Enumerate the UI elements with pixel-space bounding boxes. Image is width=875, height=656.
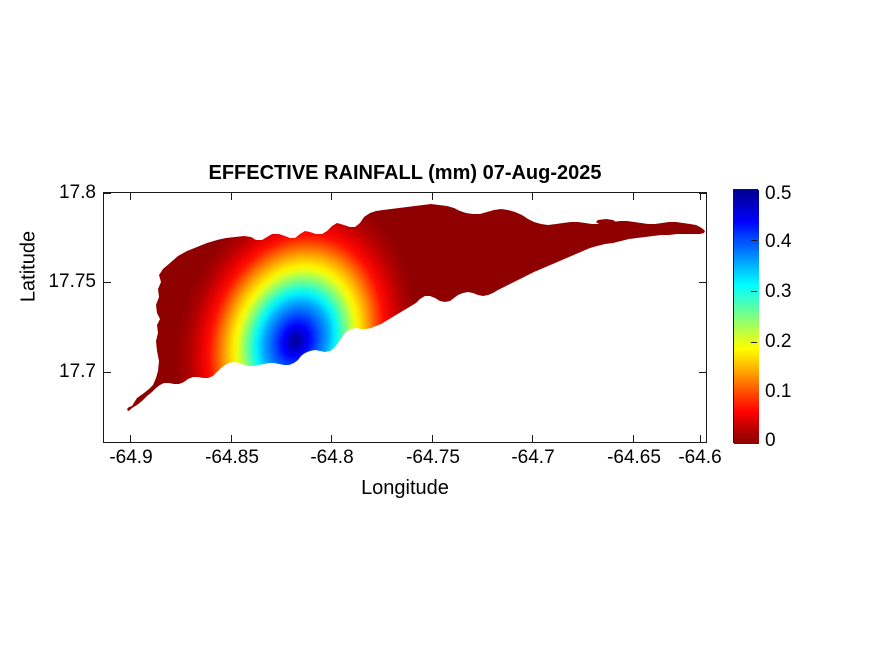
- y-axis-label: Latitude: [18, 207, 41, 327]
- map-axes[interactable]: [103, 192, 707, 443]
- xtick-label-6: -64.6: [678, 447, 721, 469]
- xtick-label-4: -64.7: [511, 447, 554, 469]
- ytick-label-2: 17.8: [0, 182, 96, 204]
- ytick-left-2: [104, 282, 111, 283]
- colorbar-label-3: 0.3: [765, 281, 791, 303]
- xtick-bottom-4: [432, 435, 433, 442]
- ytick-left-1: [104, 372, 111, 373]
- xtick-bottom-3: [331, 435, 332, 442]
- ytick-left-3: [104, 193, 111, 194]
- ytick-right-2: [699, 282, 706, 283]
- colorbar-label-0: 0: [765, 430, 776, 452]
- xtick-top-5: [532, 193, 533, 200]
- xtick-bottom-7: [700, 435, 701, 442]
- colorbar-label-4: 0.4: [765, 231, 791, 253]
- xtick-top-2: [231, 193, 232, 200]
- x-axis-label: Longitude: [103, 477, 707, 500]
- xtick-top-4: [432, 193, 433, 200]
- xtick-top-6: [633, 193, 634, 200]
- rainfall-heatmap: [104, 193, 707, 443]
- xtick-label-2: -64.8: [310, 447, 353, 469]
- xtick-label-3: -64.75: [406, 447, 460, 469]
- island-mask: [104, 193, 707, 443]
- ytick-label-1: 17.75: [0, 271, 96, 293]
- xtick-label-5: -64.65: [607, 447, 661, 469]
- xtick-bottom-5: [532, 435, 533, 442]
- colorbar-tick-0.3: [751, 342, 757, 343]
- colorbar-label-1: 0.1: [765, 381, 791, 403]
- colorbar-gradient: [734, 190, 759, 444]
- xtick-label-1: -64.85: [205, 447, 259, 469]
- colorbar-label-2: 0.2: [765, 331, 791, 353]
- colorbar-tick-0.2: [751, 291, 757, 292]
- page-title: EFFECTIVE RAINFALL (mm) 07-Aug-2025: [103, 162, 707, 185]
- colorbar-label-5: 0.5: [765, 183, 791, 205]
- ytick-label-0: 17.7: [0, 361, 96, 383]
- xtick-bottom-2: [231, 435, 232, 442]
- xtick-bottom-6: [633, 435, 634, 442]
- xtick-label-0: -64.9: [109, 447, 152, 469]
- xtick-bottom-1: [130, 435, 131, 442]
- colorbar[interactable]: [733, 189, 758, 443]
- ytick-right-1: [699, 372, 706, 373]
- xtick-top-1: [130, 193, 131, 200]
- colorbar-tick-0.1: [751, 240, 757, 241]
- ytick-right-3: [699, 193, 706, 194]
- figure-canvas: EFFECTIVE RAINFALL (mm) 07-Aug-2025: [0, 0, 875, 656]
- xtick-top-3: [331, 193, 332, 200]
